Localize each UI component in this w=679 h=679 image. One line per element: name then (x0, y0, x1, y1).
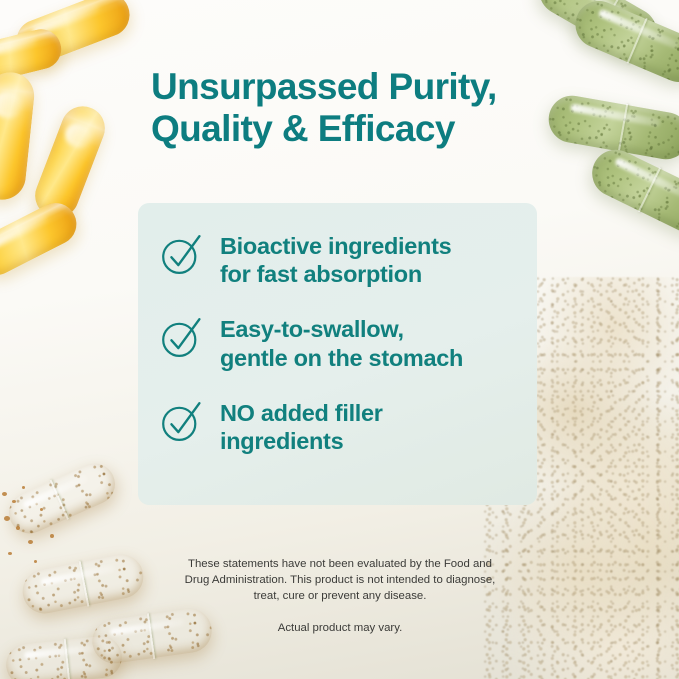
headline-line-2: Quality & Efficacy (151, 108, 455, 149)
benefits-card: Bioactive ingredients for fast absorptio… (138, 203, 537, 505)
benefits-list: Bioactive ingredients for fast absorptio… (160, 231, 523, 455)
benefit-label: Bioactive ingredients for fast absorptio… (220, 231, 451, 288)
benefit-line-2: ingredients (220, 428, 343, 454)
benefit-item: NO added filler ingredients (160, 398, 523, 455)
benefit-line-1: Bioactive ingredients (220, 233, 451, 259)
product-feature-graphic: Unsurpassed Purity, Quality & Efficacy B… (0, 0, 679, 679)
benefit-item: Easy-to-swallow, gentle on the stomach (160, 314, 523, 371)
benefit-line-2: gentle on the stomach (220, 345, 463, 371)
headline-line-1: Unsurpassed Purity, (151, 66, 497, 107)
check-circle-icon (160, 316, 204, 360)
benefit-line-1: Easy-to-swallow, (220, 316, 404, 342)
benefit-item: Bioactive ingredients for fast absorptio… (160, 231, 523, 288)
page-title: Unsurpassed Purity, Quality & Efficacy (151, 66, 551, 150)
fda-disclaimer-line-2: Drug Administration. This product is not… (185, 574, 496, 586)
fda-disclaimer: These statements have not been evaluated… (118, 556, 562, 605)
benefit-label: Easy-to-swallow, gentle on the stomach (220, 314, 463, 371)
benefit-label: NO added filler ingredients (220, 398, 383, 455)
check-circle-icon (160, 400, 204, 444)
product-variance-text: Actual product may vary. (278, 622, 403, 634)
fda-disclaimer-line-1: These statements have not been evaluated… (188, 558, 492, 570)
check-circle-icon (160, 233, 204, 277)
benefit-line-1: NO added filler (220, 400, 383, 426)
benefit-line-2: for fast absorption (220, 261, 422, 287)
product-variance-note: Actual product may vary. (118, 620, 562, 636)
content-layer: Unsurpassed Purity, Quality & Efficacy B… (0, 0, 679, 679)
fda-disclaimer-line-3: treat, cure or prevent any disease. (254, 590, 427, 602)
